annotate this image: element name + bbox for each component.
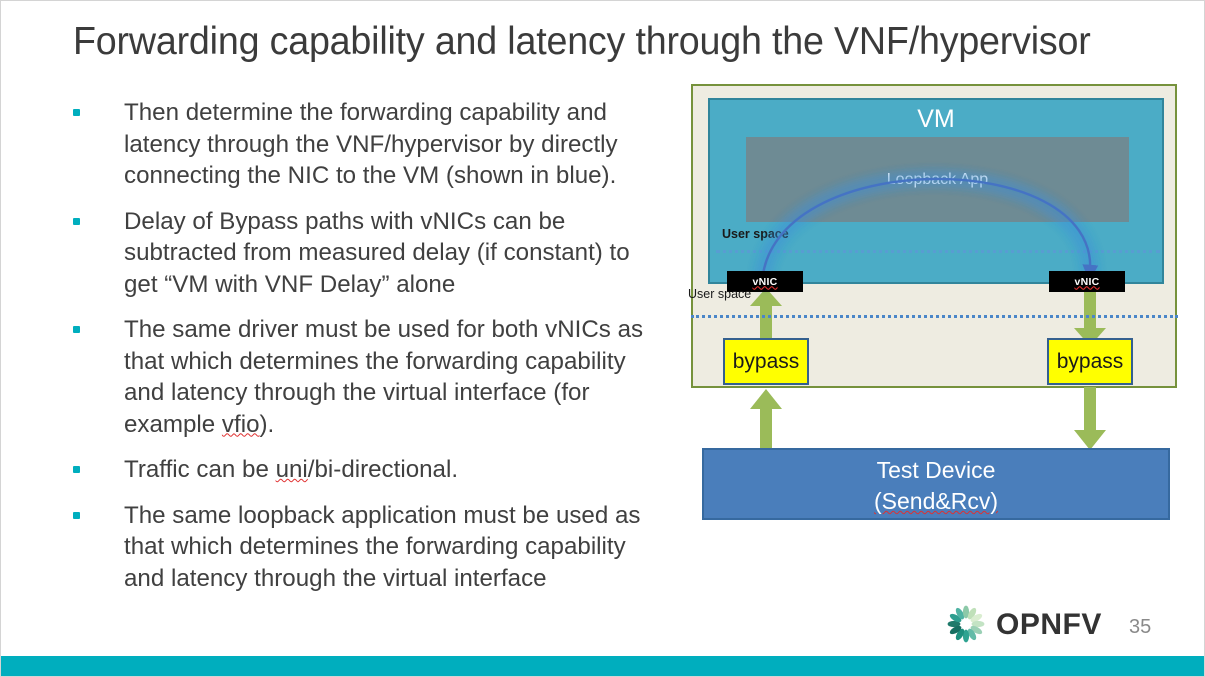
opnfv-wordmark: OPNFV <box>996 608 1102 641</box>
vnic-left-label: vNIC <box>752 276 777 288</box>
arrow-down-testdevice-right <box>1074 387 1106 450</box>
list-item: Traffic can be uni/bi-directional. <box>67 454 667 486</box>
vm-label: VM <box>710 104 1162 134</box>
list-item: Then determine the forwarding capability… <box>67 97 667 192</box>
page-title: Forwarding capability and latency throug… <box>73 17 1144 67</box>
vnic-right: vNIC <box>1049 271 1125 292</box>
bullet-marker-icon <box>73 326 80 333</box>
page-number: 35 <box>1129 616 1151 639</box>
bullet-marker-icon <box>73 512 80 519</box>
host-user-space-label: User space <box>688 287 751 301</box>
bullet-text: Traffic can be uni/bi-directional. <box>124 454 659 486</box>
bullet-text: Then determine the forwarding capability… <box>124 97 659 192</box>
loopback-app-label: Loopback App <box>746 171 1129 189</box>
bullet-marker-icon <box>73 218 80 225</box>
vm-box: VM Loopback App User space <box>708 98 1164 284</box>
bullet-list: Then determine the forwarding capability… <box>67 97 667 608</box>
loopback-app-box: Loopback App <box>746 137 1129 222</box>
bullet-text: The same loopback application must be us… <box>124 500 659 595</box>
host-kernel-boundary-line <box>691 315 1178 318</box>
opnfv-logo-svg: OPNFV <box>944 602 1109 646</box>
list-item: The same loopback application must be us… <box>67 500 667 595</box>
bullet-text: Delay of Bypass paths with vNICs can be … <box>124 206 659 301</box>
opnfv-petal-icon <box>948 606 985 643</box>
vnic-right-label: vNIC <box>1074 276 1099 288</box>
bullet-marker-icon <box>73 466 80 473</box>
test-device-line1: Test Device <box>704 455 1168 486</box>
bypass-box-right: bypass <box>1047 338 1133 385</box>
slide-canvas: Forwarding capability and latency throug… <box>0 0 1205 677</box>
list-item: The same driver must be used for both vN… <box>67 314 667 440</box>
vm-user-space-label: User space <box>722 227 789 241</box>
opnfv-logo: OPNFV <box>944 602 1109 646</box>
test-device-line2: (Send&Rcv) <box>704 486 1168 517</box>
list-item: Delay of Bypass paths with vNICs can be … <box>67 206 667 301</box>
bypass-box-left: bypass <box>723 338 809 385</box>
test-device-box: Test Device (Send&Rcv) <box>702 448 1170 520</box>
vm-kernel-boundary-line <box>716 250 1160 253</box>
bullet-text: The same driver must be used for both vN… <box>124 314 659 440</box>
architecture-diagram: VM Loopback App User space <box>690 84 1178 530</box>
arrow-up-bypass-left <box>750 389 782 452</box>
bullet-marker-icon <box>73 109 80 116</box>
bottom-accent-bar <box>1 656 1205 676</box>
